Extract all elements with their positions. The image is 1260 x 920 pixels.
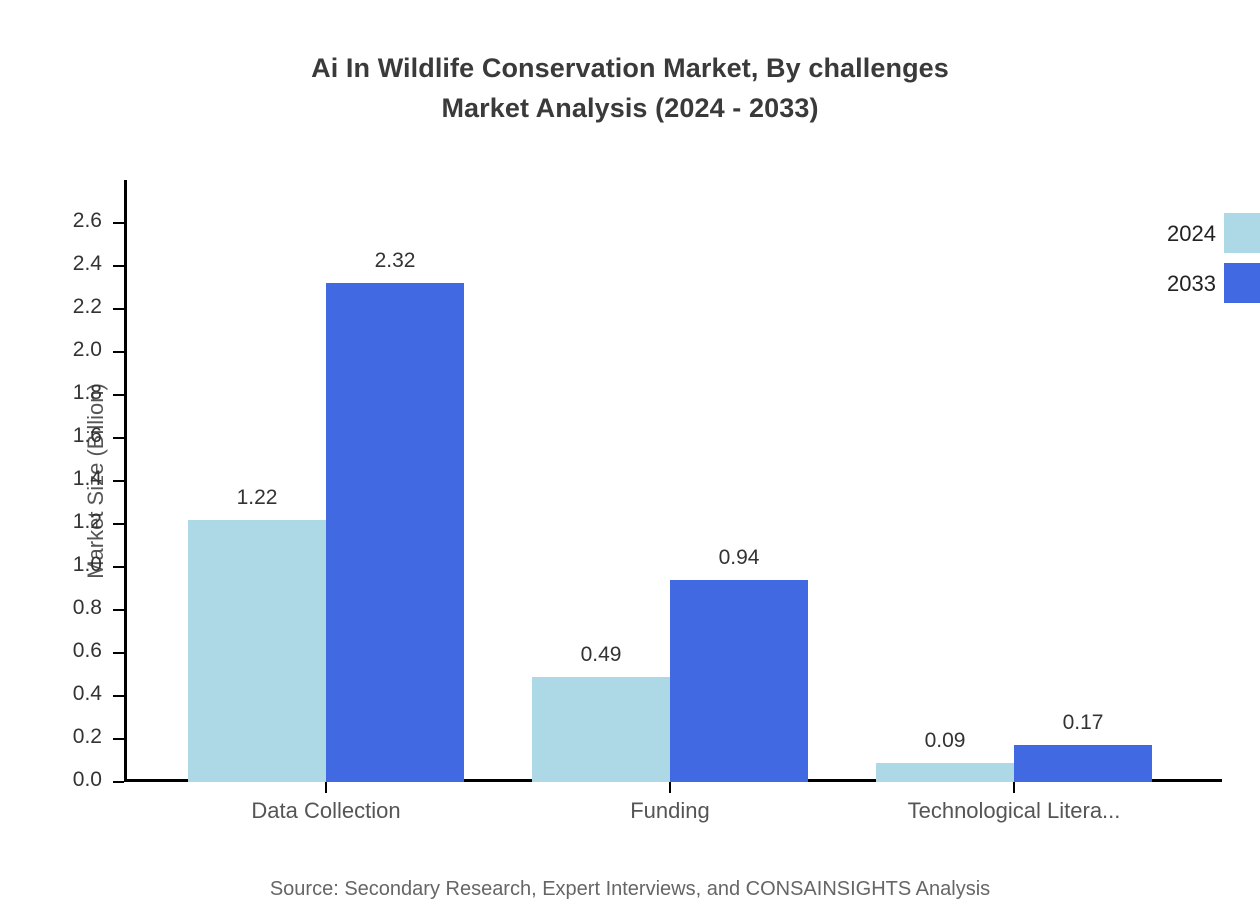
legend-label-2033: 2033	[1120, 271, 1216, 297]
legend-label-2024: 2024	[1120, 221, 1216, 247]
x-tick-mark	[1013, 782, 1015, 793]
y-tick-label: 0.0	[34, 768, 102, 792]
y-tick-label: 0.4	[34, 682, 102, 706]
x-tick-mark	[325, 782, 327, 793]
chart-legend: 2024 2033	[1120, 213, 1260, 309]
legend-item-2024[interactable]: 2024	[1120, 213, 1260, 257]
y-tick-mark	[113, 265, 124, 267]
x-tick-label-0: Data Collection	[251, 798, 400, 824]
y-tick-label: 1.2	[34, 510, 102, 534]
y-tick-label: 2.0	[34, 338, 102, 362]
y-tick-mark	[113, 523, 124, 525]
y-tick-mark	[113, 738, 124, 740]
y-tick-mark	[113, 566, 124, 568]
source-note: Source: Secondary Research, Expert Inter…	[0, 878, 1260, 901]
bar-2033-data-collection[interactable]	[326, 283, 464, 782]
y-tick-mark	[113, 480, 124, 482]
y-tick-label: 0.6	[34, 639, 102, 663]
bar-2024-data-collection[interactable]	[188, 520, 326, 782]
y-tick-label: 1.8	[34, 381, 102, 405]
chart-title-line-2: Market Analysis (2024 - 2033)	[0, 88, 1260, 128]
bar-2024-funding[interactable]	[532, 677, 670, 782]
y-tick-mark	[113, 609, 124, 611]
y-axis-line	[124, 180, 127, 782]
bar-2033-funding[interactable]	[670, 580, 808, 782]
y-tick-label: 2.2	[34, 295, 102, 319]
y-tick-label: 2.6	[34, 209, 102, 233]
legend-swatch-2024	[1224, 213, 1260, 253]
bar-value-label: 2.32	[375, 249, 416, 273]
bar-2024-technological-litera-[interactable]	[876, 763, 1014, 782]
x-tick-label-2: Technological Litera...	[908, 798, 1121, 824]
y-tick-label: 1.6	[34, 424, 102, 448]
legend-item-2033[interactable]: 2033	[1120, 263, 1260, 307]
y-tick-mark	[113, 394, 124, 396]
y-tick-mark	[113, 781, 124, 783]
y-tick-label: 1.4	[34, 467, 102, 491]
bar-value-label: 1.22	[237, 486, 278, 510]
x-tick-mark	[669, 782, 671, 793]
chart-title: Ai In Wildlife Conservation Market, By c…	[0, 48, 1260, 128]
y-tick-mark	[113, 695, 124, 697]
bar-value-label: 0.09	[925, 729, 966, 753]
chart-title-line-1: Ai In Wildlife Conservation Market, By c…	[0, 48, 1260, 88]
y-tick-label: 0.8	[34, 596, 102, 620]
x-tick-label-1: Funding	[630, 798, 710, 824]
bar-value-label: 0.94	[719, 546, 760, 570]
bar-chart-figure: Ai In Wildlife Conservation Market, By c…	[0, 0, 1260, 920]
legend-swatch-2033	[1224, 263, 1260, 303]
y-tick-label: 2.4	[34, 252, 102, 276]
y-tick-mark	[113, 437, 124, 439]
y-tick-label: 1.0	[34, 553, 102, 577]
bar-2033-technological-litera-[interactable]	[1014, 745, 1152, 782]
y-tick-mark	[113, 308, 124, 310]
bar-value-label: 0.49	[581, 643, 622, 667]
y-tick-label: 0.2	[34, 725, 102, 749]
bar-value-label: 0.17	[1063, 711, 1104, 735]
y-tick-mark	[113, 222, 124, 224]
y-tick-mark	[113, 351, 124, 353]
y-tick-mark	[113, 652, 124, 654]
plot-area: Market Size (Billion) 0.00.20.40.60.81.0…	[124, 180, 1222, 782]
